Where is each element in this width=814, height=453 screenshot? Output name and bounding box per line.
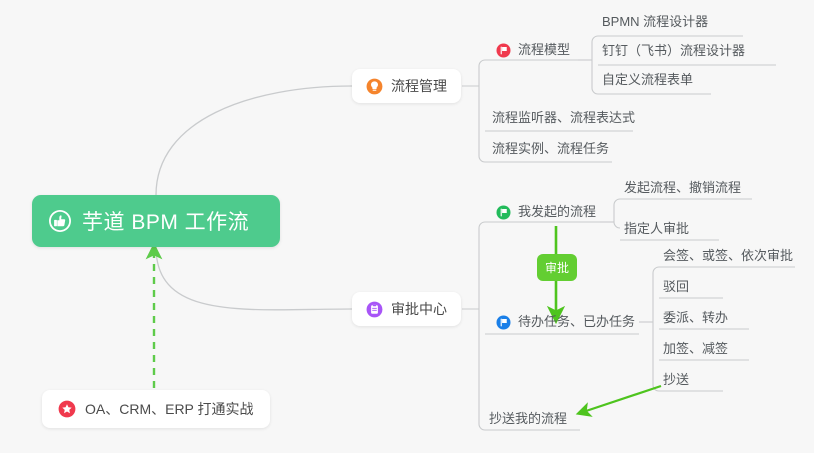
node-countersign-orsign-sequential[interactable]: 会签、或签、依次审批: [659, 246, 797, 268]
node-dingtalk-feishu-designer-label: 钉钉（飞书）流程设计器: [602, 43, 745, 58]
node-cc-label: 抄送: [663, 372, 689, 387]
branch-approval-center[interactable]: 审批中心: [352, 292, 461, 326]
root-node[interactable]: 芋道 BPM 工作流: [32, 195, 280, 247]
node-add-remove-sign-label: 加签、减签: [663, 341, 728, 356]
node-cc-to-me-process[interactable]: 抄送我的流程: [485, 409, 571, 431]
node-custom-process-form-label: 自定义流程表单: [602, 72, 693, 87]
connector-pm-bracket: [479, 60, 485, 162]
branch-approval-center-label: 审批中心: [391, 299, 447, 319]
thumbs-up-icon: [48, 209, 72, 233]
callout-oa-crm-erp[interactable]: OA、CRM、ERP 打通实战: [42, 390, 270, 428]
node-reject[interactable]: 驳回: [659, 277, 693, 299]
node-delegate-transfer[interactable]: 委派、转办: [659, 308, 732, 330]
connector-root-to-approval-center: [156, 247, 352, 310]
node-process-model-label: 流程模型: [518, 40, 570, 60]
approval-annotation-chip-label: 审批: [545, 259, 569, 276]
node-add-remove-sign[interactable]: 加签、减签: [659, 339, 732, 361]
node-reject-label: 驳回: [663, 279, 689, 294]
clipboard-icon: [366, 301, 383, 318]
node-dingtalk-feishu-designer[interactable]: 钉钉（飞书）流程设计器: [598, 41, 749, 63]
node-cc[interactable]: 抄送: [659, 370, 693, 392]
node-process-instance-task[interactable]: 流程实例、流程任务: [488, 139, 613, 161]
branch-process-management[interactable]: 流程管理: [352, 69, 461, 103]
flag-icon: [496, 43, 511, 58]
node-start-cancel-process-label: 发起流程、撤销流程: [624, 180, 741, 195]
node-custom-process-form[interactable]: 自定义流程表单: [598, 70, 697, 92]
connector-ac-bracket: [479, 222, 485, 430]
approval-annotation-chip: 审批: [537, 254, 577, 281]
flag-icon: [496, 205, 511, 220]
lightbulb-icon: [366, 78, 383, 95]
node-process-model[interactable]: 流程模型: [492, 40, 574, 62]
node-assignee-approval-label: 指定人审批: [624, 221, 689, 236]
cc-to-process-arrow: [583, 386, 661, 412]
root-node-label: 芋道 BPM 工作流: [82, 206, 249, 236]
node-process-listener-expression-label: 流程监听器、流程表达式: [492, 110, 635, 125]
node-todo-done-tasks[interactable]: 待办任务、已办任务: [492, 312, 639, 334]
node-bpmn-designer[interactable]: BPMN 流程设计器: [598, 12, 712, 34]
flag-icon: [496, 315, 511, 330]
node-process-instance-task-label: 流程实例、流程任务: [492, 141, 609, 156]
node-bpmn-designer-label: BPMN 流程设计器: [602, 14, 708, 29]
node-countersign-orsign-sequential-label: 会签、或签、依次审批: [663, 248, 793, 263]
node-start-cancel-process[interactable]: 发起流程、撤销流程: [620, 178, 745, 200]
node-todo-done-tasks-label: 待办任务、已办任务: [518, 312, 635, 332]
node-process-listener-expression[interactable]: 流程监听器、流程表达式: [488, 108, 639, 130]
node-cc-to-me-process-label: 抄送我的流程: [489, 411, 567, 426]
node-assignee-approval[interactable]: 指定人审批: [620, 219, 693, 241]
connector-root-to-process-management: [156, 86, 352, 195]
node-delegate-transfer-label: 委派、转办: [663, 310, 728, 325]
node-my-initiated-process-label: 我发起的流程: [518, 202, 596, 222]
callout-oa-crm-erp-label: OA、CRM、ERP 打通实战: [85, 399, 254, 419]
node-my-initiated-process[interactable]: 我发起的流程: [492, 202, 600, 224]
star-icon: [58, 400, 76, 418]
branch-process-management-label: 流程管理: [391, 76, 447, 96]
mindmap-canvas: 芋道 BPM 工作流 流程管理 流程模型 BPMN 流程设计器 钉钉（飞书）流程…: [0, 0, 814, 453]
